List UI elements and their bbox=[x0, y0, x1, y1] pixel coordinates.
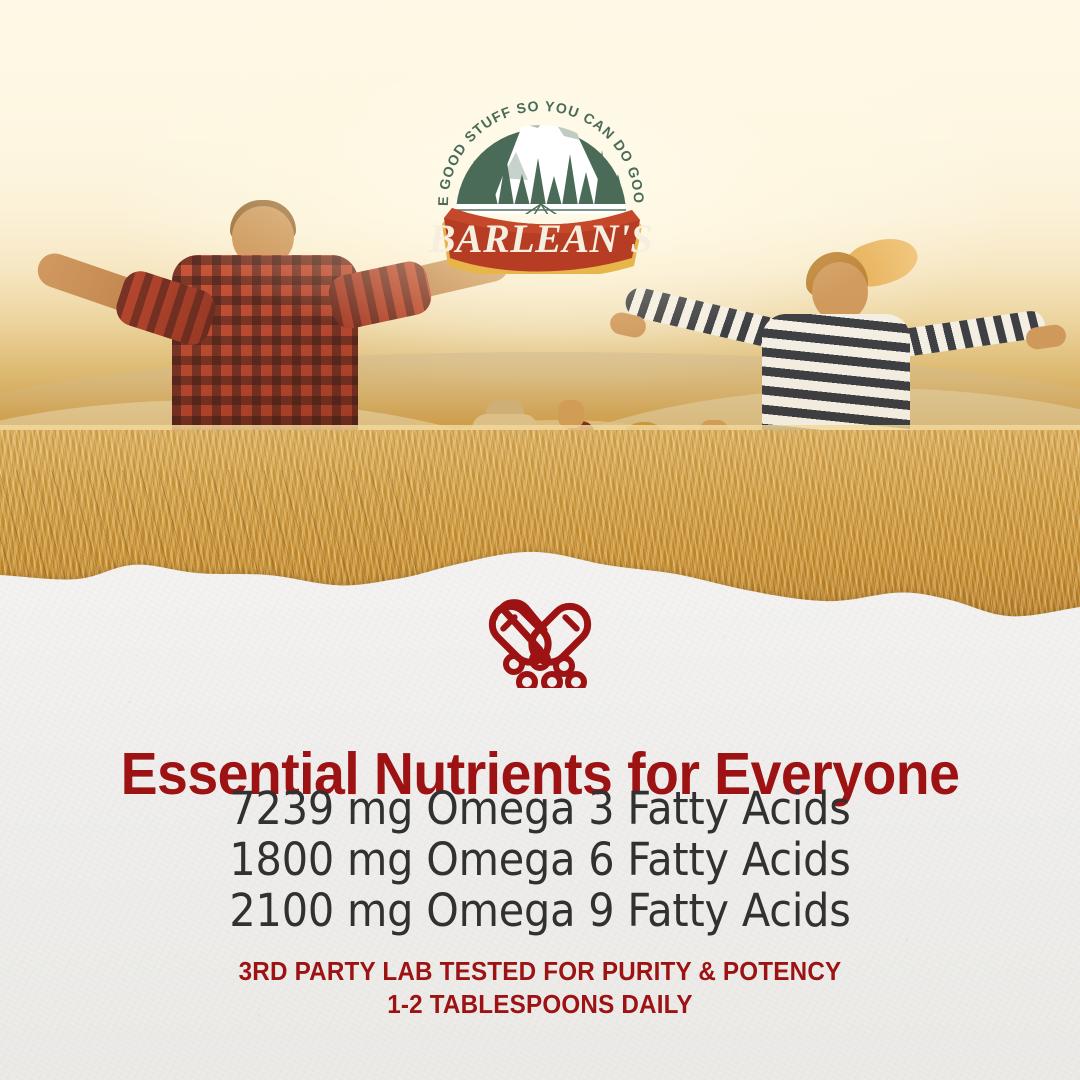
logo-brand-name: BARLEAN'S bbox=[428, 216, 653, 261]
mother-head bbox=[812, 262, 868, 322]
mother-hand-right bbox=[1025, 323, 1068, 350]
marketing-graphic: WE MAKE GOOD STUFF SO YOU CAN DO GOOD ST… bbox=[0, 0, 1080, 1080]
logo-banner: BARLEAN'S bbox=[428, 208, 653, 274]
mother-arm-left bbox=[623, 285, 784, 350]
nutrient-line-omega6: 1800 mg Omega 6 Fatty Acids bbox=[43, 834, 1037, 885]
footer-claims: 3RD PARTY LAB TESTED FOR PURITY & POTENC… bbox=[0, 956, 1080, 1022]
crossed-capsules-with-droplets-icon bbox=[0, 592, 1080, 688]
boy-hand-left bbox=[558, 400, 584, 428]
barleans-logo: WE MAKE GOOD STUFF SO YOU CAN DO GOOD ST… bbox=[428, 28, 654, 274]
nutrient-line-omega3: 7239 mg Omega 3 Fatty Acids bbox=[43, 783, 1037, 834]
mother-arm-right bbox=[894, 309, 1046, 358]
footer-line-lab-tested: 3RD PARTY LAB TESTED FOR PURITY & POTENC… bbox=[27, 956, 1053, 989]
nutrient-line-omega9: 2100 mg Omega 9 Fatty Acids bbox=[43, 885, 1037, 936]
footer-line-dosage: 1-2 TABLESPOONS DAILY bbox=[27, 989, 1053, 1022]
nutrient-list: 7239 mg Omega 3 Fatty Acids 1800 mg Omeg… bbox=[0, 783, 1080, 936]
